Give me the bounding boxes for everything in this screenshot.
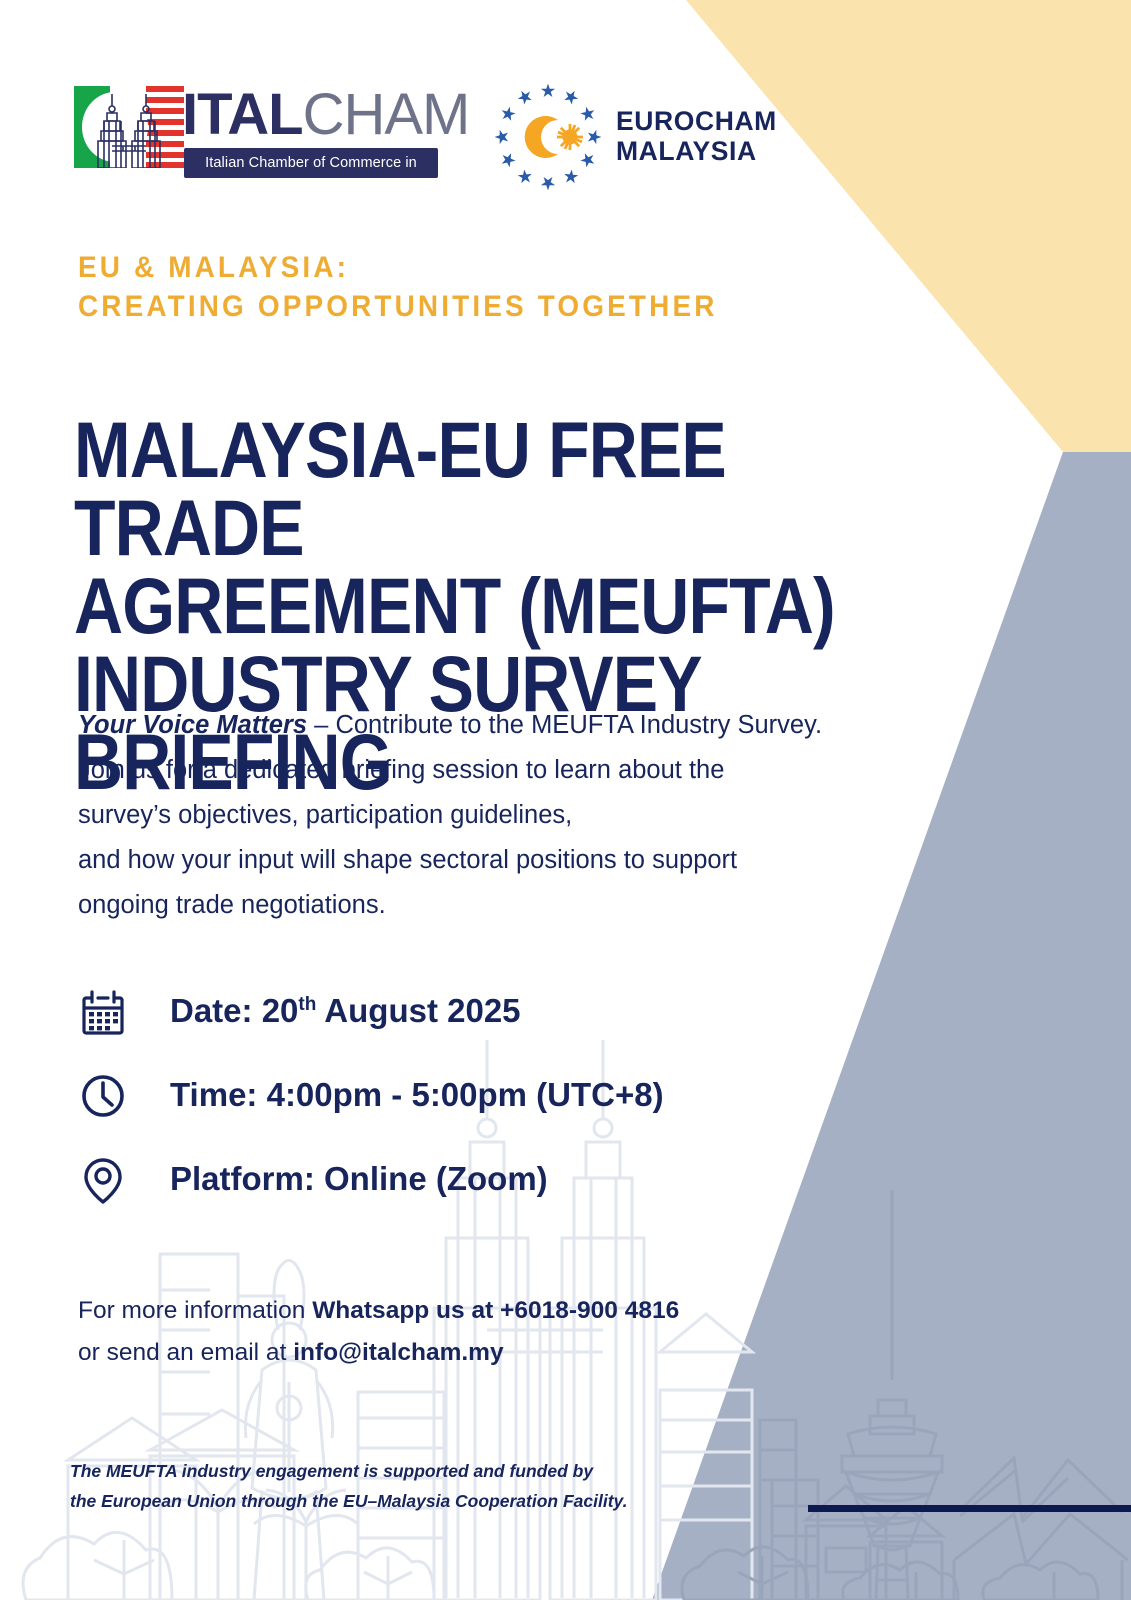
contact-line-email: or send an email at info@italcham.my	[78, 1332, 878, 1374]
eurocham-line1: EUROCHAM	[616, 106, 777, 136]
detail-value-time: 4:00pm - 5:00pm (UTC+8)	[267, 1076, 664, 1113]
italcham-word-bold: ITAL	[182, 82, 303, 147]
footer-rule	[808, 1505, 1131, 1512]
title-line1: MALAYSIA-EU FREE TRADE	[74, 411, 934, 567]
body-line5: ongoing trade negotiations.	[78, 883, 958, 928]
calendar-icon	[78, 987, 128, 1037]
detail-row-time: Time: 4:00pm - 5:00pm (UTC+8)	[78, 1069, 838, 1153]
funding-line2: the European Union through the EU–Malays…	[70, 1486, 790, 1516]
italcham-flag-mark	[74, 86, 184, 168]
kicker-heading: EU & MALAYSIA: CREATING OPPORTUNITIES TO…	[78, 248, 915, 326]
detail-text-time: Time: 4:00pm - 5:00pm (UTC+8)	[170, 1069, 664, 1121]
body-line3: survey’s objectives, participation guide…	[78, 793, 958, 838]
detail-value-platform: Online (Zoom)	[324, 1160, 548, 1197]
italcham-word-light: CHAM	[303, 82, 470, 147]
petronas-towers-icon	[92, 88, 166, 168]
italcham-tagline-prefix: Italian Chamber of Commerce in	[205, 155, 417, 171]
kicker-line2: CREATING OPPORTUNITIES TOGETHER	[78, 287, 915, 326]
contact-line2-prefix: or send an email at	[78, 1339, 293, 1366]
contact-info: For more information Whatsapp us at +601…	[78, 1290, 878, 1374]
title-line2: AGREEMENT (MEUFTA)	[74, 567, 934, 645]
funding-line1: The MEUFTA industry engagement is suppor…	[70, 1456, 790, 1486]
detail-row-date: Date: 20th August 2025	[78, 985, 838, 1069]
eu-stars-crescent-icon	[486, 78, 610, 196]
eurocham-logo: EUROCHAM MALAYSIA	[486, 78, 796, 196]
detail-label-platform: Platform:	[170, 1160, 315, 1197]
kicker-line1: EU & MALAYSIA:	[78, 248, 915, 287]
clock-icon	[78, 1071, 128, 1121]
italcham-tagline-bold: Malaysia	[280, 185, 341, 201]
poster-canvas: ITALCHAM Italian Chamber of Commerce in …	[0, 0, 1131, 1600]
cream-wedge	[686, 0, 1131, 452]
body-lead-rest: – Contribute to the MEUFTA Industry Surv…	[307, 711, 822, 739]
whatsapp-number[interactable]: Whatsapp us at +6018-900 4816	[312, 1297, 679, 1324]
italcham-logo: ITALCHAM Italian Chamber of Commerce in …	[74, 86, 438, 186]
detail-value-date-sup: th	[298, 994, 316, 1015]
detail-text-date: Date: 20th August 2025	[170, 985, 521, 1037]
body-lead: Your Voice Matters	[78, 711, 307, 739]
detail-value-date: 20	[262, 992, 299, 1029]
logo-row: ITALCHAM Italian Chamber of Commerce in …	[74, 78, 834, 196]
email-address[interactable]: info@italcham.my	[293, 1339, 503, 1366]
location-pin-icon	[78, 1155, 128, 1205]
contact-line1-prefix: For more information	[78, 1297, 312, 1324]
detail-text-platform: Platform: Online (Zoom)	[170, 1153, 548, 1205]
italcham-wordmark: ITALCHAM	[182, 84, 469, 146]
body-line1: Your Voice Matters – Contribute to the M…	[78, 703, 958, 748]
event-details: Date: 20th August 2025 Time: 4:00pm - 5:…	[78, 985, 838, 1237]
italcham-tagline: Italian Chamber of Commerce in Malaysia	[184, 148, 438, 178]
detail-label-date: Date:	[170, 992, 253, 1029]
body-line2: Join us for a dedicated briefing session…	[78, 748, 958, 793]
eurocham-wordmark: EUROCHAM MALAYSIA	[616, 106, 777, 166]
detail-value-date-rest: August 2025	[316, 992, 520, 1029]
detail-row-platform: Platform: Online (Zoom)	[78, 1153, 838, 1237]
funding-disclaimer: The MEUFTA industry engagement is suppor…	[70, 1456, 790, 1516]
eurocham-line2: MALAYSIA	[616, 136, 777, 166]
body-copy: Your Voice Matters – Contribute to the M…	[78, 703, 958, 928]
detail-label-time: Time:	[170, 1076, 257, 1113]
body-line4: and how your input will shape sectoral p…	[78, 838, 958, 883]
contact-line-whatsapp: For more information Whatsapp us at +601…	[78, 1290, 878, 1332]
